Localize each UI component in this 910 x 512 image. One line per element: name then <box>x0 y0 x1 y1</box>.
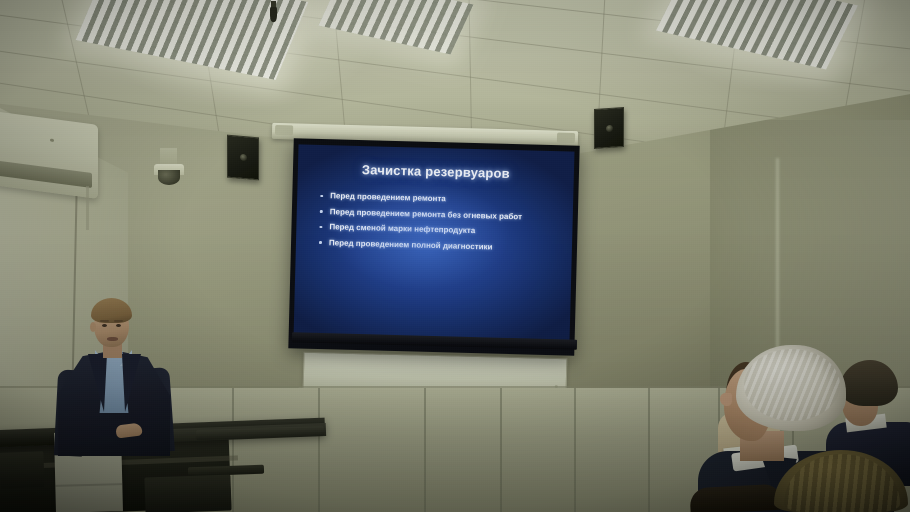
chair-back <box>144 475 231 512</box>
slide-bullet: Перед проведением ремонта <box>319 190 555 208</box>
presenter-ear <box>90 322 96 332</box>
presenter-hair <box>91 298 132 323</box>
air-conditioner <box>0 111 98 199</box>
wall-speaker-left <box>227 135 259 181</box>
projection-screen: Зачистка резервуаров Перед проведением р… <box>294 144 575 343</box>
presenter-eye-left <box>102 324 107 327</box>
casing-end-cap-right <box>557 133 575 143</box>
presenter-eyebrow-right <box>114 320 123 322</box>
speaker-driver-icon <box>240 154 247 162</box>
casing-end-cap-left <box>275 125 293 135</box>
dome-camera-icon <box>154 148 184 184</box>
chair-back <box>0 451 45 489</box>
presenter-eye-right <box>116 324 121 327</box>
audience-white-man-hair <box>736 345 846 431</box>
ac-vent <box>0 161 92 188</box>
slide-title: Зачистка резервуаров <box>310 161 562 183</box>
slide-bullet: Перед сменой марки нефтепродукта <box>318 221 554 239</box>
wall-speaker-right <box>594 107 624 149</box>
presenter-lapel-right <box>122 354 141 412</box>
ac-pipe <box>86 186 89 230</box>
presenter-eyebrow-left <box>100 320 109 322</box>
audience-white-man-nose <box>720 393 732 406</box>
audience-foreground-shoulder <box>689 484 782 512</box>
sprinkler-head-icon <box>270 6 277 22</box>
slide-bullet-list: Перед проведением ремонта Перед проведен… <box>308 190 561 255</box>
presenter-mouth <box>107 337 118 341</box>
slide-bullet: Перед проведением ремонта без огневых ра… <box>319 205 555 223</box>
presenter <box>50 296 186 456</box>
slide-bullet: Перед проведением полной диагностики <box>318 236 554 254</box>
presentation-photo: Зачистка резервуаров Перед проведением р… <box>0 0 910 512</box>
presenter-lapel-left <box>88 354 107 412</box>
speaker-driver-icon <box>606 125 613 132</box>
presentation-slide: Зачистка резервуаров Перед проведением р… <box>294 144 575 343</box>
ac-indicator-led <box>50 139 54 143</box>
